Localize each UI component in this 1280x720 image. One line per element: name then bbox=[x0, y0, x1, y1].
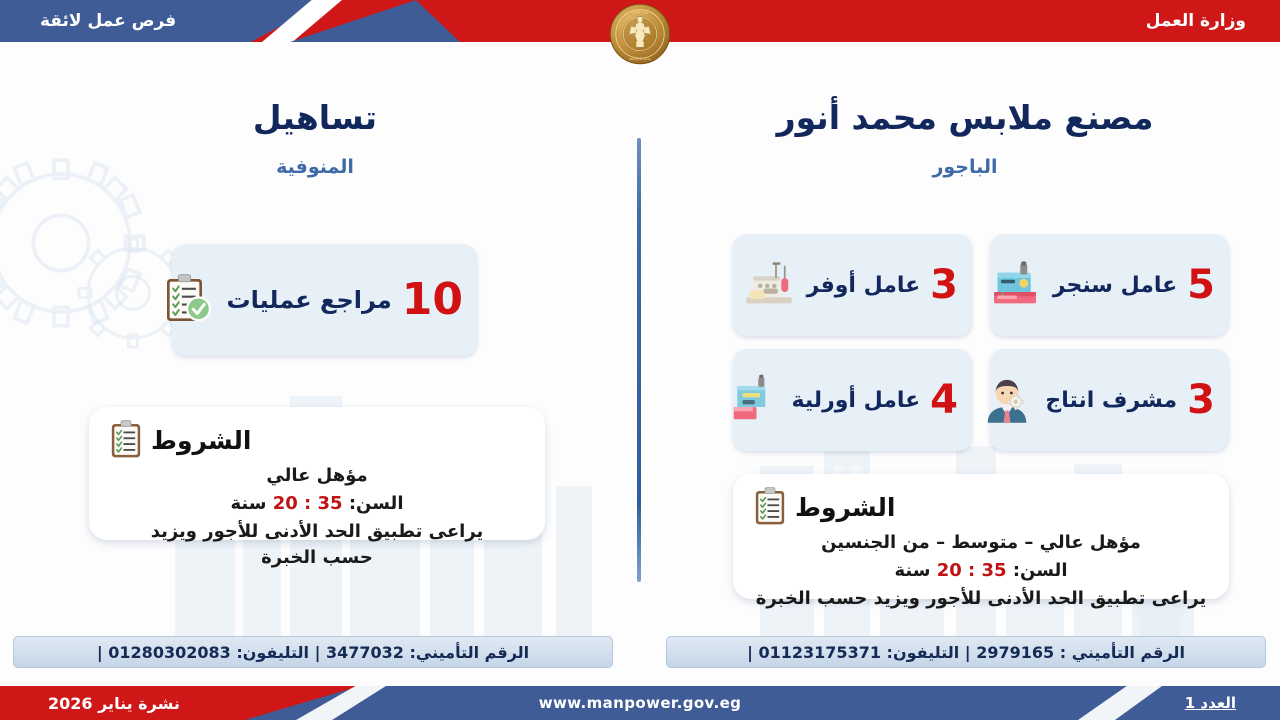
footer-issue-number: العدد 1 bbox=[1185, 686, 1236, 720]
conditions-title: الشروط bbox=[795, 493, 895, 522]
right-conditions-card: الشروط bbox=[733, 474, 1229, 599]
age-prefix: السن: bbox=[1007, 560, 1068, 581]
svg-text:Ministry of Labour: Ministry of Labour bbox=[629, 57, 651, 61]
sewing-machine-icon bbox=[725, 372, 781, 428]
footer-website[interactable]: www.manpower.gov.eg bbox=[0, 686, 1280, 720]
conditions-wage-note: يراعى تطبيق الحد الأدنى للأجور ويزيد حسب… bbox=[751, 586, 1211, 612]
clipboard-checklist-icon bbox=[751, 486, 787, 528]
production-supervisor-icon bbox=[979, 372, 1035, 428]
clipboard-checklist-icon bbox=[107, 419, 143, 461]
age-prefix: السن: bbox=[343, 493, 404, 514]
header-ministry-name: وزارة العمل bbox=[1146, 0, 1246, 42]
overlock-machine-icon bbox=[741, 257, 797, 313]
sewing-machine-blue-icon bbox=[987, 257, 1043, 313]
conditions-qualification: مؤهل عالي bbox=[107, 463, 527, 489]
job-title: مراجع عمليات bbox=[226, 286, 391, 314]
panel-divider bbox=[637, 138, 641, 582]
job-chip-right-1[interactable]: 3 عامل أوفر bbox=[733, 234, 972, 336]
right-contact-bar[interactable]: الرقم التأميني : 2979165 | التليفون: 011… bbox=[666, 636, 1266, 668]
left-company-name: تساهيل bbox=[0, 100, 630, 136]
conditions-header: الشروط bbox=[751, 486, 1211, 528]
conditions-wage-note: يراعى تطبيق الحد الأدنى للأجور ويزيد حسب… bbox=[107, 519, 527, 571]
conditions-age: السن: 35 : 20 سنة bbox=[751, 558, 1211, 584]
job-title: عامل أورلية bbox=[791, 388, 920, 413]
panel-left: تساهيل المنوفية 10 مراجع عمليات bbox=[0, 42, 630, 686]
age-range: 35 : 20 bbox=[273, 493, 343, 514]
job-count: 3 bbox=[1187, 380, 1215, 420]
header-tagline: فرص عمل لائقة bbox=[40, 0, 176, 42]
conditions-header: الشروط bbox=[107, 419, 527, 461]
age-range: 35 : 20 bbox=[937, 560, 1007, 581]
job-count: 10 bbox=[402, 278, 463, 322]
left-conditions-card: الشروط bbox=[89, 407, 545, 540]
job-count: 3 bbox=[930, 265, 958, 305]
poster-page: فرص عمل لائقة وزارة العمل وزارة العمل Mi… bbox=[0, 0, 1280, 720]
panel-right: مصنع ملابس محمد أنور الباجور 5 عامل سنجر bbox=[650, 42, 1280, 686]
job-title: عامل سنجر bbox=[1053, 273, 1177, 298]
conditions-age: السن: 35 : 20 سنة bbox=[107, 491, 527, 517]
job-count: 5 bbox=[1187, 265, 1215, 305]
left-company-location: المنوفية bbox=[0, 156, 630, 178]
job-chip-right-0[interactable]: 5 عامل سنجر bbox=[990, 234, 1229, 336]
right-company-location: الباجور bbox=[650, 156, 1280, 178]
job-chip-right-2[interactable]: 3 مشرف انتاج bbox=[990, 349, 1229, 451]
right-company-name: مصنع ملابس محمد أنور bbox=[650, 100, 1280, 136]
age-suffix: سنة bbox=[230, 493, 272, 514]
clipboard-check-icon bbox=[160, 272, 216, 328]
conditions-title: الشروط bbox=[151, 426, 251, 455]
svg-text:وزارة العمل: وزارة العمل bbox=[632, 10, 649, 14]
conditions-qualification: مؤهل عالي – متوسط – من الجنسين bbox=[751, 530, 1211, 556]
poster-content: مصنع ملابس محمد أنور الباجور 5 عامل سنجر bbox=[0, 42, 1280, 686]
job-title: مشرف انتاج bbox=[1045, 388, 1177, 413]
job-chip-left-0[interactable]: 10 مراجع عمليات bbox=[172, 244, 477, 356]
egypt-ministry-of-labour-seal-icon: وزارة العمل Ministry of Labour bbox=[609, 3, 671, 65]
job-count: 4 bbox=[930, 380, 958, 420]
left-contact-bar[interactable]: الرقم التأميني: 3477032 | التليفون: 0128… bbox=[13, 636, 613, 668]
age-suffix: سنة bbox=[894, 560, 936, 581]
job-title: عامل أوفر bbox=[807, 273, 921, 298]
page-footer: نشرة يناير 2026 www.manpower.gov.eg العد… bbox=[0, 686, 1280, 720]
job-chip-right-3[interactable]: 4 عامل أورلية bbox=[733, 349, 972, 451]
